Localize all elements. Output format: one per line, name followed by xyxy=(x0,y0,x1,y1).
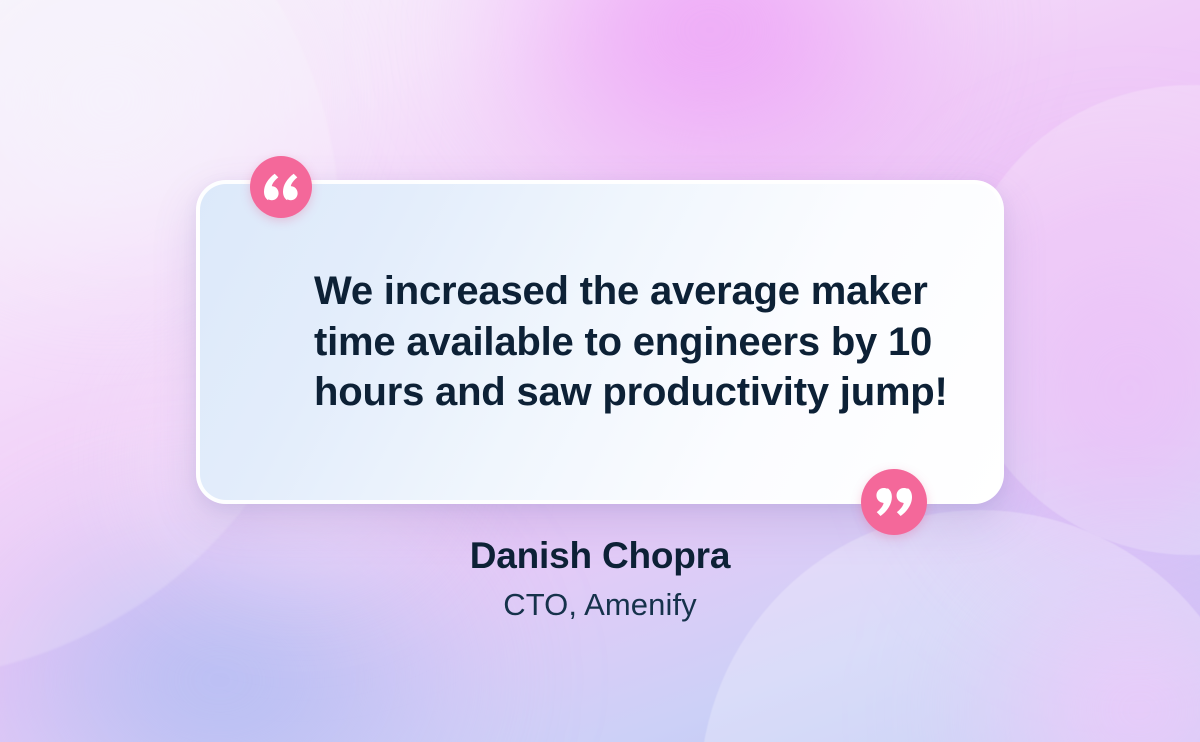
quote-line-1: We increased the average maker xyxy=(314,266,886,316)
open-quote-icon xyxy=(264,173,298,201)
opening-quote-badge xyxy=(250,156,312,218)
quote-text: We increased the average maker time avai… xyxy=(280,266,920,417)
closing-quote-badge xyxy=(861,469,927,535)
author-name: Danish Chopra xyxy=(0,534,1200,578)
testimonial-stage: We increased the average maker time avai… xyxy=(0,0,1200,742)
quote-card: We increased the average maker time avai… xyxy=(196,180,1004,504)
quote-line-2: time available to engineers by 10 xyxy=(314,317,886,367)
close-quote-icon xyxy=(876,487,912,517)
attribution: Danish Chopra CTO, Amenify xyxy=(0,534,1200,624)
quote-line-3: hours and saw productivity jump! xyxy=(314,367,886,417)
author-role: CTO, Amenify xyxy=(0,585,1200,625)
